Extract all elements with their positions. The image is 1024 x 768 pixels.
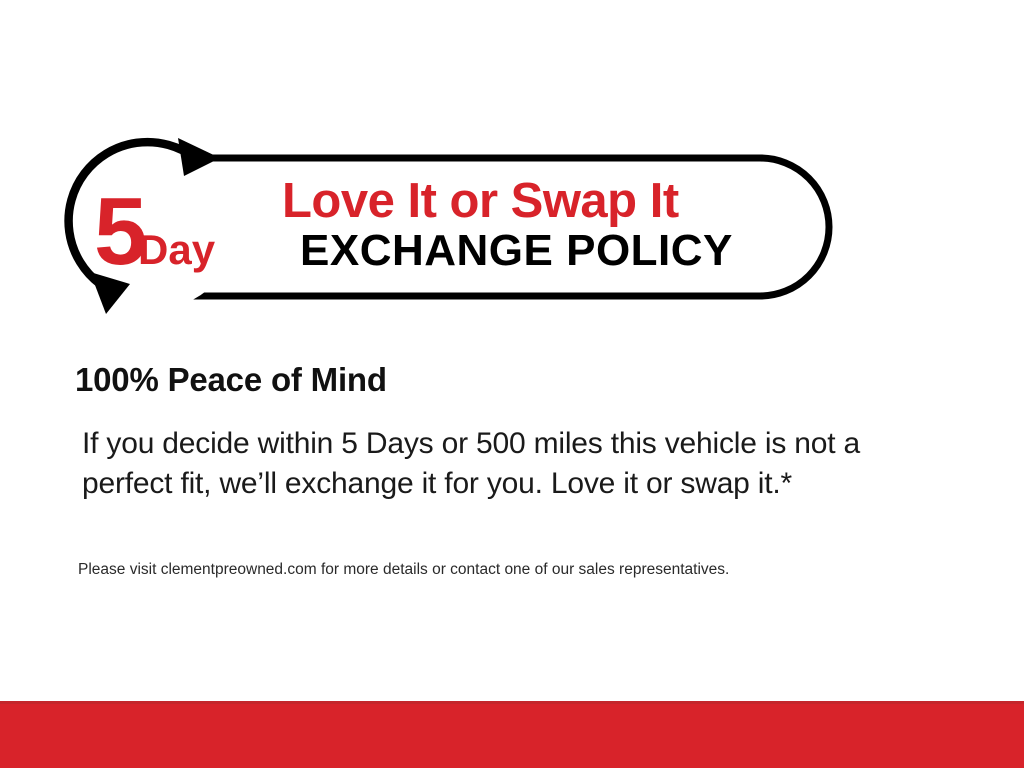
slide-canvas: 5 Day Love It or Swap It EXCHANGE POLICY… [0, 0, 1024, 768]
disclaimer-text: Please visit clementpreowned.com for mor… [0, 504, 1024, 580]
footer-accent-bar [0, 704, 1024, 768]
badge-graphic: 5 Day Love It or Swap It EXCHANGE POLICY [60, 132, 840, 322]
footer-accent-bar-edge [0, 701, 1024, 704]
banner-title-group: Love It or Swap It EXCHANGE POLICY [282, 174, 733, 275]
exchange-policy-badge: 5 Day Love It or Swap It EXCHANGE POLICY [60, 132, 840, 322]
logo-unit-label: Day [138, 226, 216, 273]
banner-title-primary: Love It or Swap It [282, 174, 679, 228]
page-headline: 100% Peace of Mind [0, 360, 1024, 400]
policy-description: If you decide within 5 Days or 500 miles… [0, 400, 872, 504]
policy-copy-block: 100% Peace of Mind If you decide within … [0, 360, 1024, 580]
banner-title-secondary: EXCHANGE POLICY [300, 226, 733, 275]
